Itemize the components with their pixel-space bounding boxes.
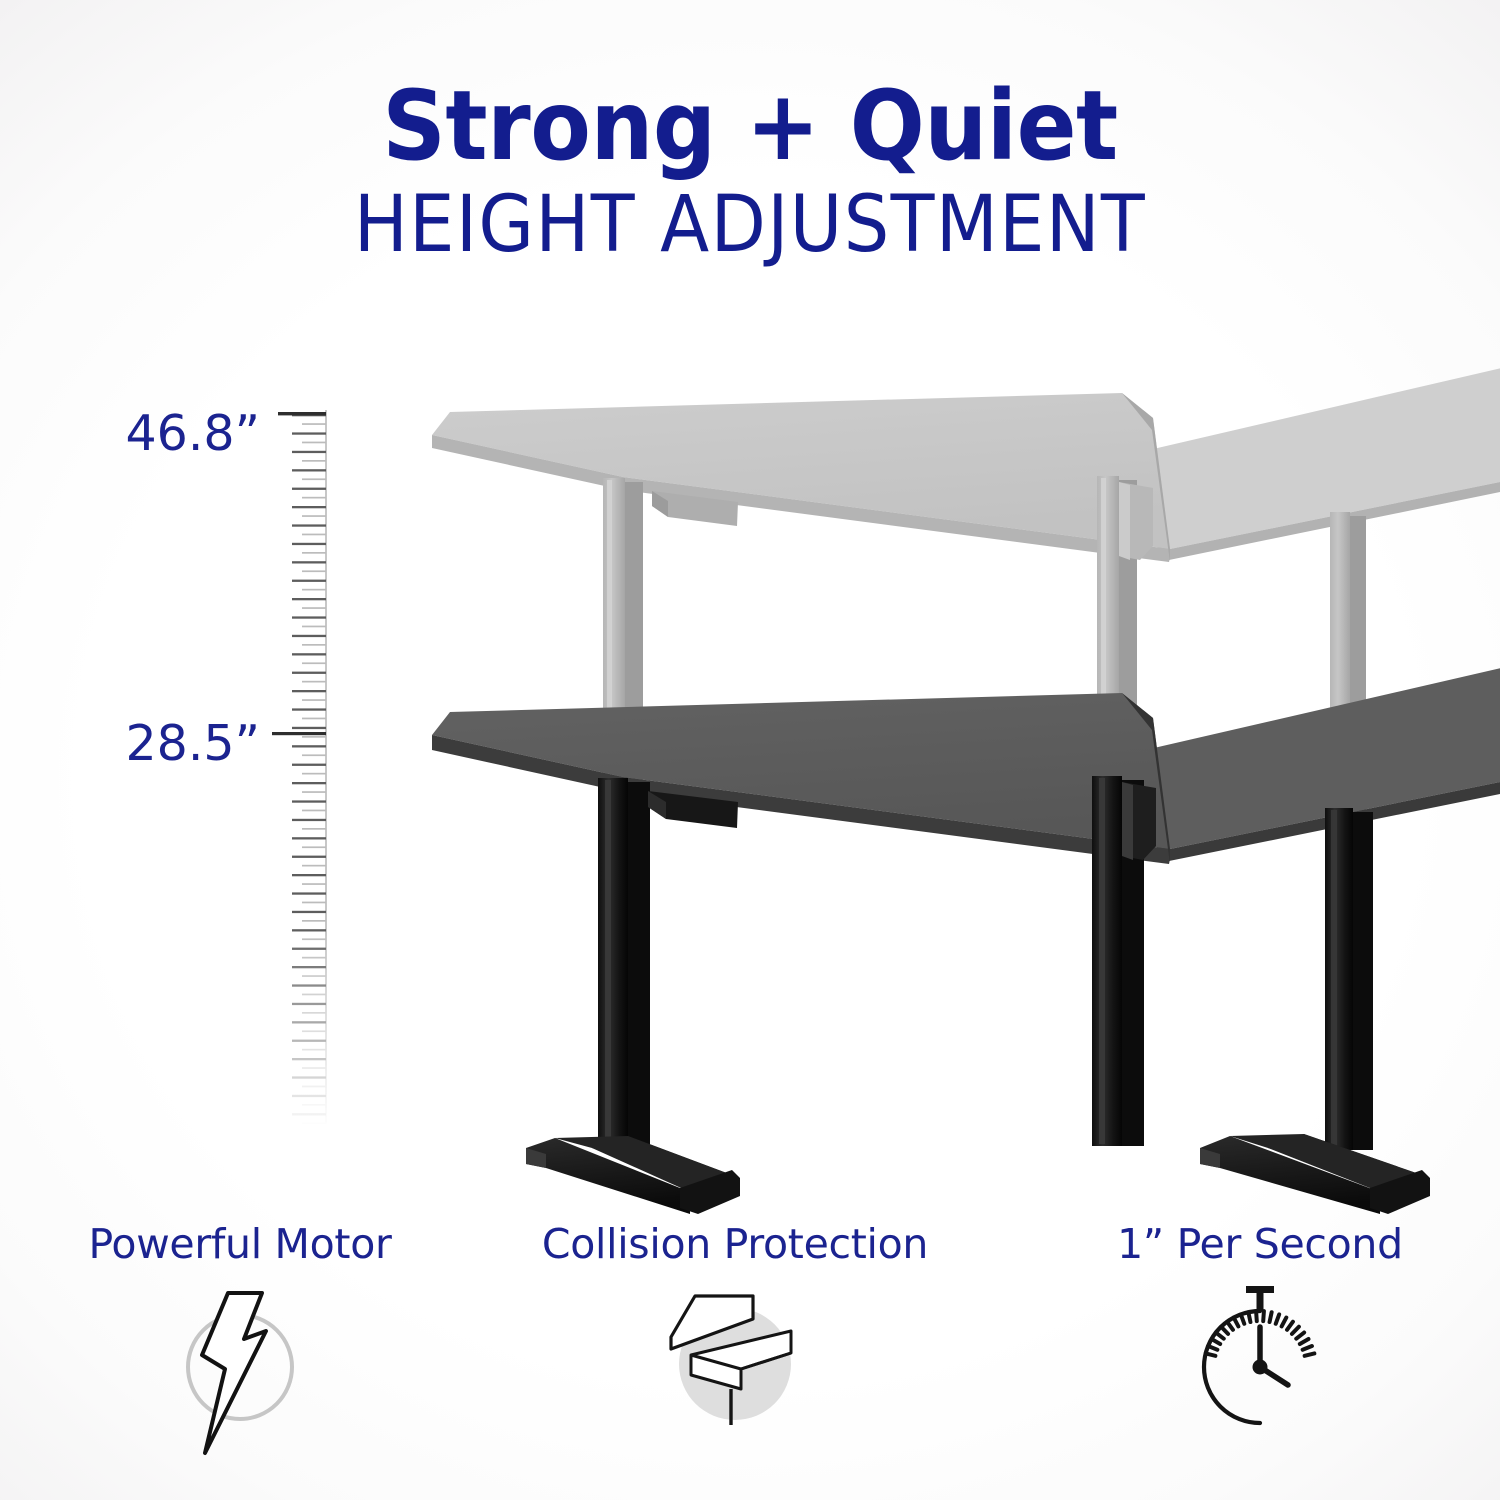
feature-label-0: Powerful Motor — [0, 1222, 480, 1267]
feature-collision-protection: Collision Protection — [495, 1222, 975, 1469]
lowered-right-foot — [1200, 1134, 1430, 1214]
feature-powerful-motor: Powerful Motor — [0, 1222, 480, 1469]
stopwatch-icon — [1160, 1279, 1360, 1469]
ruler-ticks — [272, 410, 327, 1124]
feature-label-1: Collision Protection — [495, 1222, 975, 1267]
lowered-return-leg — [1325, 808, 1373, 1150]
lowered-corner-bracket — [1122, 782, 1156, 860]
lowered-left-foot — [526, 1136, 740, 1214]
lowered-desk-top — [432, 693, 1170, 864]
lightning-bolt-icon — [140, 1279, 340, 1469]
desktop-collision-icon — [635, 1279, 835, 1469]
headline-block: Strong + Quiet HEIGHT ADJUSTMENT — [0, 78, 1500, 269]
standing-desk-illustration — [380, 330, 1500, 1260]
page-subtitle: HEIGHT ADJUSTMENT — [60, 182, 1440, 269]
lowered-desk-position — [432, 666, 1500, 1214]
feature-label-2: 1” Per Second — [1020, 1222, 1500, 1267]
lowered-left-leg — [598, 778, 650, 1148]
feature-speed: 1” Per Second — [1020, 1222, 1500, 1469]
raised-desk-top — [432, 393, 1170, 562]
infographic-page: Strong + Quiet HEIGHT ADJUSTMENT 46.8” 2… — [0, 0, 1500, 1500]
max-height-label: 46.8” — [100, 405, 260, 462]
page-title: Strong + Quiet — [60, 78, 1440, 174]
raised-corner-bracket — [1119, 482, 1153, 560]
height-ruler — [266, 410, 328, 1130]
min-height-label: 28.5” — [100, 715, 260, 772]
